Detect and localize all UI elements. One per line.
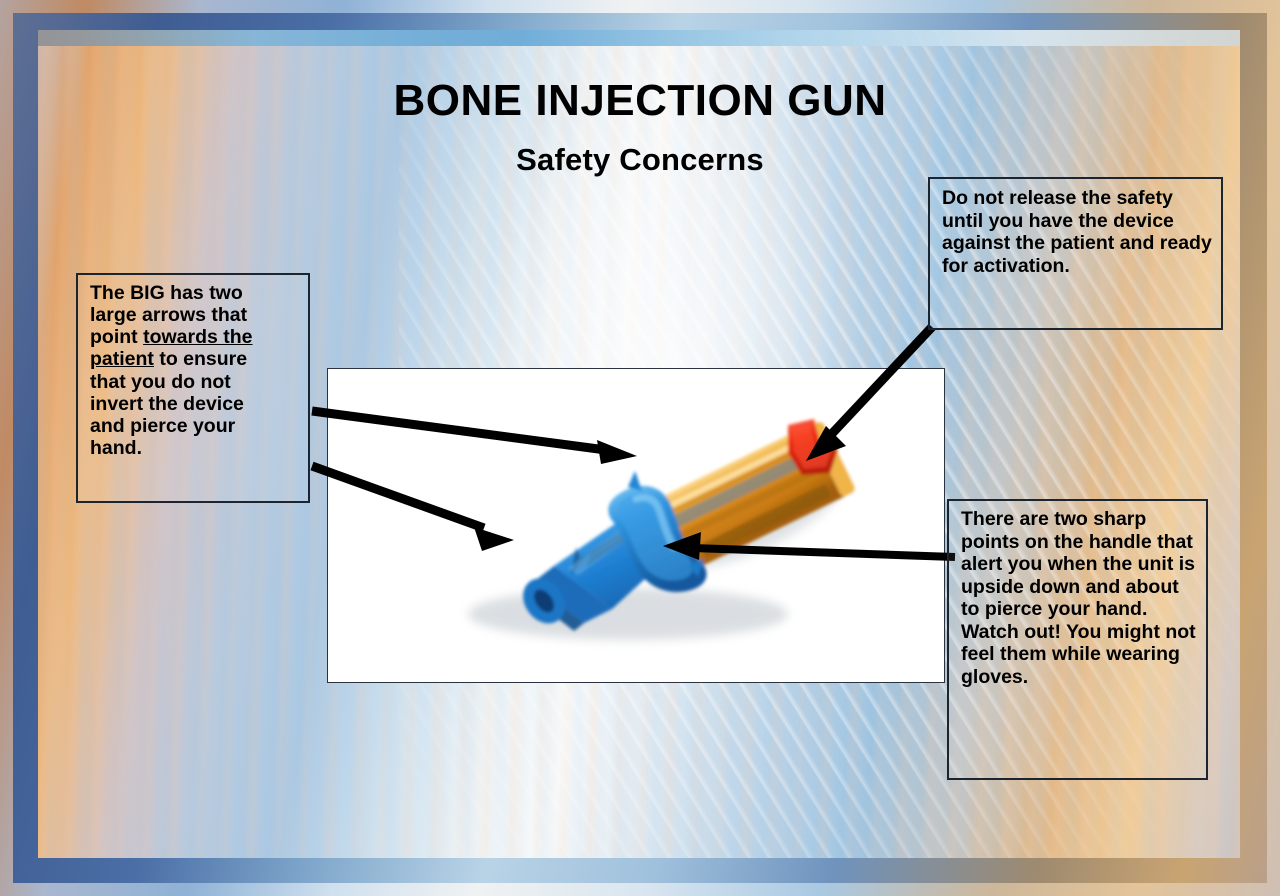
callout-left-line1: The BIG has two (90, 282, 302, 304)
callout-left-line3-underline: towards the (143, 326, 252, 348)
callout-left-line4: patient to ensure (90, 348, 302, 370)
slide-subtitle: Safety Concerns (0, 142, 1280, 178)
sharp-points-callout[interactable]: There are two sharp points on the handle… (947, 499, 1208, 780)
slide-root: BONE INJECTION GUN Safety Concerns (0, 0, 1280, 896)
callout-left-line2: large arrows that (90, 304, 302, 326)
callout-left-line3-prefix: point (90, 326, 143, 348)
callout-left-line4-suffix: to ensure (154, 348, 247, 370)
callout-left-line6: invert the device (90, 393, 302, 415)
arrow-direction-callout[interactable]: The BIG has two large arrows that point … (76, 273, 310, 503)
safety-release-callout-text: Do not release the safety until you have… (942, 187, 1212, 277)
background-top-band (38, 30, 1240, 46)
device-photo-panel (327, 368, 945, 683)
callout-left-line5: that you do not (90, 371, 302, 393)
callout-left-line8: hand. (90, 437, 302, 459)
slide-title: BONE INJECTION GUN (0, 78, 1280, 124)
callout-left-line7: and pierce your (90, 415, 302, 437)
callout-left-line4-underline: patient (90, 348, 154, 370)
sharp-points-callout-text: There are two sharp points on the handle… (961, 508, 1196, 688)
bone-injection-gun-illustration (328, 369, 944, 682)
callout-left-line3: point towards the (90, 326, 302, 348)
safety-release-callout[interactable]: Do not release the safety until you have… (928, 177, 1223, 330)
